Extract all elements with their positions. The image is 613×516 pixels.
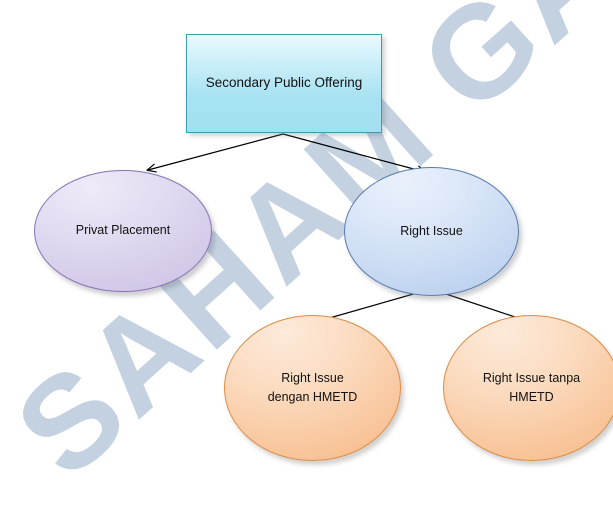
edge-root-to-private	[148, 134, 283, 170]
diagram-canvas: SAHAM GAIN Secondary Public Offering Pri…	[0, 0, 613, 516]
node-right-issue-dengan-hmetd[interactable]: Right Issue dengan HMETD	[224, 315, 401, 461]
node-label-line1: Right Issue	[281, 371, 344, 385]
node-label-line1: Right Issue tanpa	[483, 371, 580, 385]
node-label: Right Issue tanpa HMETD	[473, 369, 590, 408]
node-label: Secondary Public Offering	[187, 35, 381, 94]
node-label-line2: dengan HMETD	[268, 388, 358, 407]
node-label: Right Issue	[390, 222, 473, 241]
node-label: Privat Placement	[66, 221, 180, 240]
node-label-line2: HMETD	[483, 388, 580, 407]
edge-root-to-rightissue	[283, 134, 425, 172]
node-privat-placement[interactable]: Privat Placement	[34, 170, 212, 292]
node-right-issue-tanpa-hmetd[interactable]: Right Issue tanpa HMETD	[443, 315, 613, 461]
node-right-issue[interactable]: Right Issue	[344, 167, 519, 296]
node-secondary-public-offering[interactable]: Secondary Public Offering	[186, 34, 382, 133]
node-label: Right Issue dengan HMETD	[258, 369, 368, 408]
